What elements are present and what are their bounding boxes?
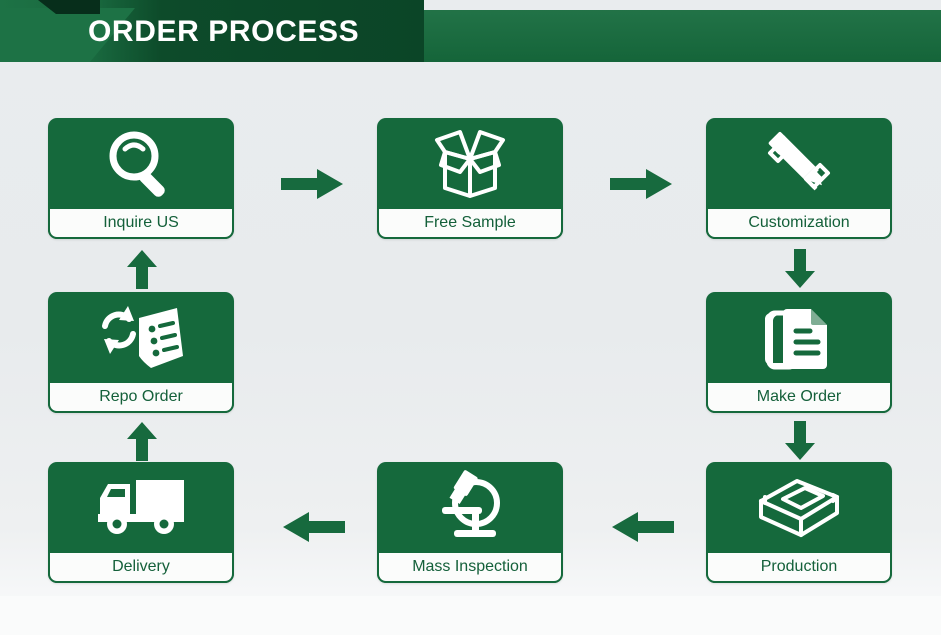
arrow-makeorder-to-production [784,421,816,461]
step-label-customization: Customization [706,207,892,239]
step-card-repo-order[interactable]: Repo Order [48,292,234,413]
step-card-free-sample[interactable]: Free Sample [377,118,563,239]
step-card-make-order[interactable]: Make Order [706,292,892,413]
truck-icon [48,462,234,551]
step-label-make-order: Make Order [706,381,892,413]
step-label-repo-order: Repo Order [48,381,234,413]
step-label-free-sample: Free Sample [377,207,563,239]
arrow-sample-to-customization [610,168,674,200]
step-card-customization[interactable]: Customization [706,118,892,239]
step-card-production[interactable]: Production [706,462,892,583]
arrow-repoorder-to-inquire [126,249,158,289]
arrow-customization-to-makeorder [784,249,816,289]
step-label-delivery: Delivery [48,551,234,583]
background-bottom-strip [0,596,941,635]
step-card-inquire-us[interactable]: Inquire US [48,118,234,239]
step-card-mass-inspection[interactable]: Mass Inspection [377,462,563,583]
magnifier-icon [48,118,234,207]
reorder-list-icon [48,292,234,381]
step-label-mass-inspection: Mass Inspection [377,551,563,583]
carton-box-icon [706,462,892,551]
order-process-infographic: ORDER PROCESS Inquire US [0,0,941,635]
step-label-inquire-us: Inquire US [48,207,234,239]
arrow-inquire-to-sample [281,168,345,200]
step-card-delivery[interactable]: Delivery [48,462,234,583]
step-label-production: Production [706,551,892,583]
arrow-delivery-to-repoorder [126,421,158,461]
page-title: ORDER PROCESS [88,12,418,52]
documents-icon [706,292,892,381]
arrow-production-to-inspection [610,511,674,543]
pencil-ruler-icon [706,118,892,207]
arrow-inspection-to-delivery [281,511,345,543]
microscope-icon [377,462,563,551]
open-box-icon [377,118,563,207]
